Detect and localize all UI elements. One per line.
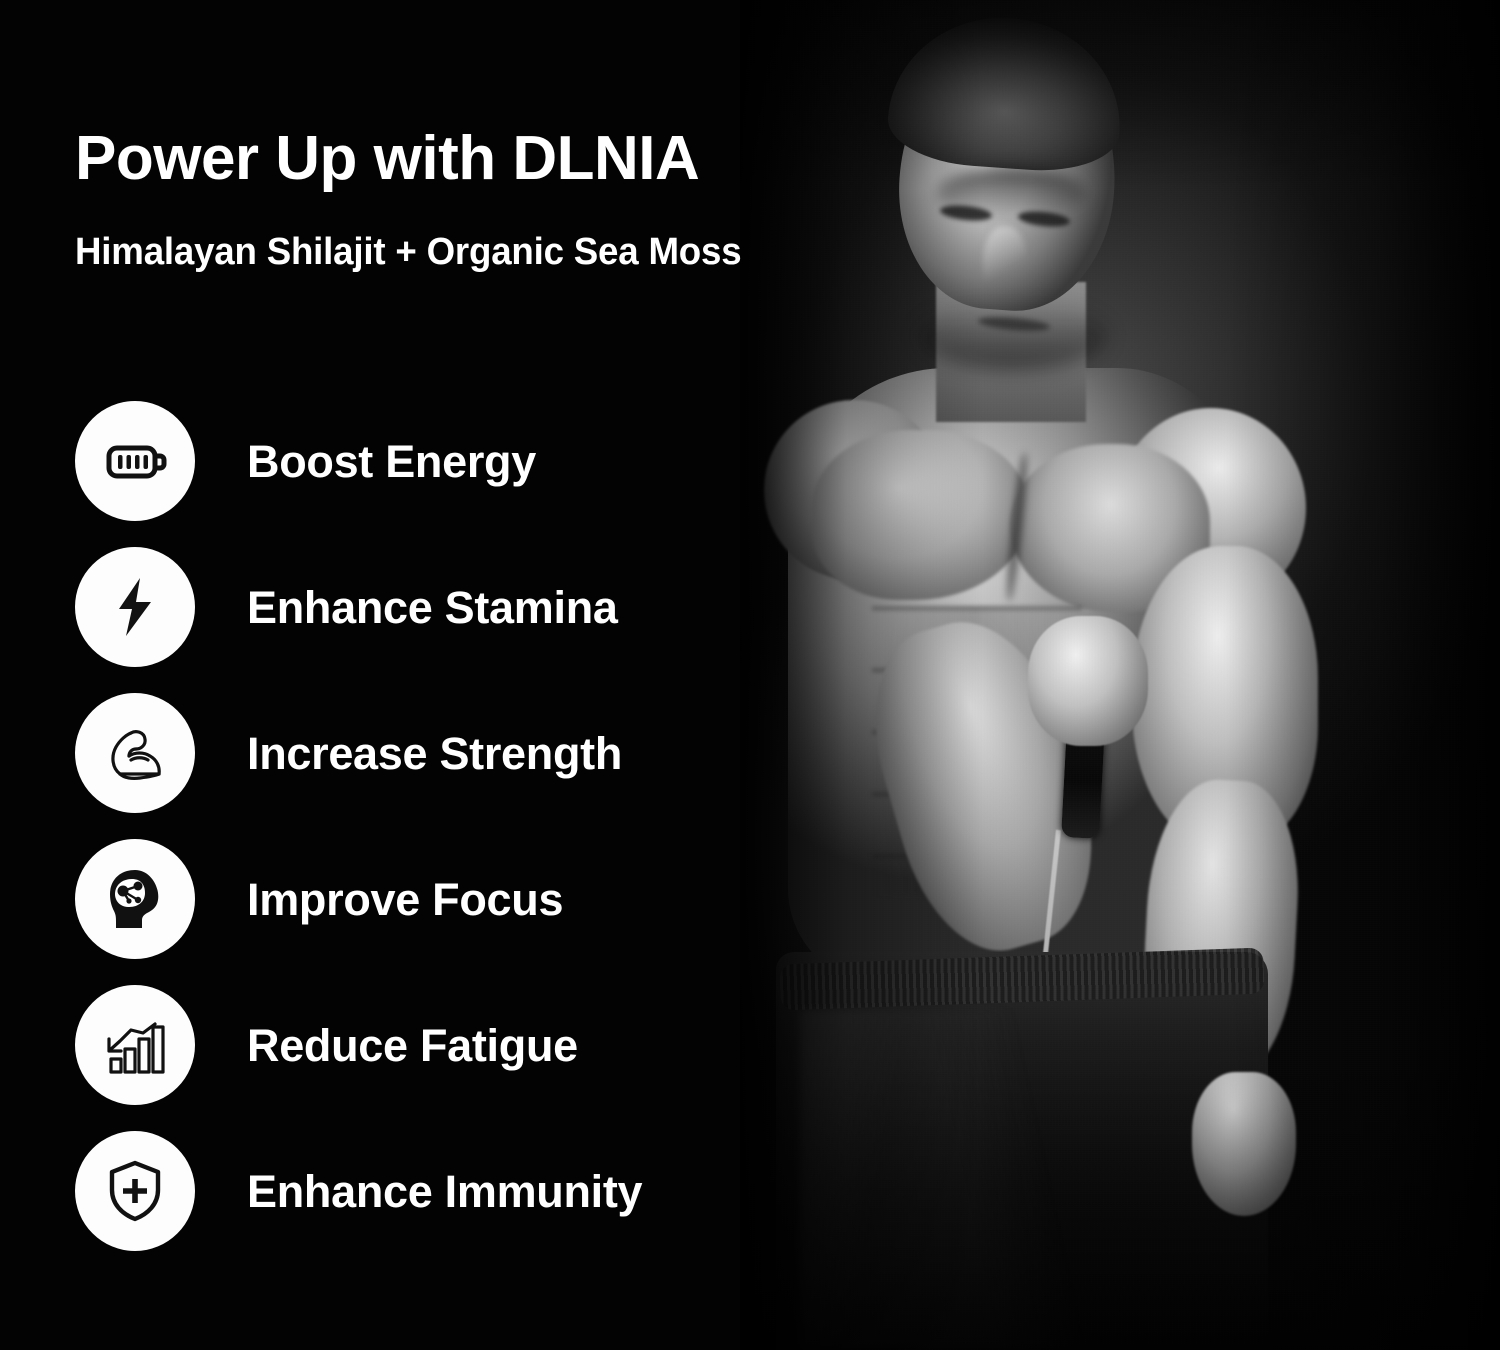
benefit-badge [75,547,195,667]
shorts-folds [800,1010,1220,1350]
benefits-list: Boost Energy Enhance Stamina [75,388,835,1264]
benefit-badge [75,693,195,813]
content-pane: Power Up with DLNIA Himalayan Shilajit +… [0,0,840,1350]
lowered-hand [1192,1072,1296,1216]
flexed-bicep-icon [98,716,172,790]
hair [885,10,1127,176]
battery-icon [99,425,171,497]
gripping-hand [1028,616,1148,746]
benefit-label: Enhance Immunity [247,1169,642,1214]
page-title: Power Up with DLNIA [75,128,815,190]
benefit-badge [75,1131,195,1251]
benefit-badge [75,401,195,521]
jaw-shadow [918,300,1108,370]
list-item: Enhance Immunity [75,1118,835,1264]
list-item: Improve Focus [75,826,835,972]
benefit-label: Reduce Fatigue [247,1023,578,1068]
athlete-photo [740,0,1500,1350]
list-item: Boost Energy [75,388,835,534]
benefit-label: Increase Strength [247,731,622,776]
nose [983,226,1027,302]
list-item: Reduce Fatigue [75,972,835,1118]
lightning-bolt-icon [99,571,171,643]
list-item: Enhance Stamina [75,534,835,680]
benefit-label: Enhance Stamina [247,585,618,630]
benefit-label: Boost Energy [247,439,536,484]
list-item: Increase Strength [75,680,835,826]
athlete-figure [740,0,1500,1350]
brain-head-icon [98,862,172,936]
page-subtitle: Himalayan Shilajit + Organic Sea Moss [75,233,808,271]
benefit-badge [75,985,195,1105]
promo-banner: Power Up with DLNIA Himalayan Shilajit +… [0,0,1500,1350]
declining-bar-chart-icon [98,1008,172,1082]
benefit-badge [75,839,195,959]
shield-plus-icon [98,1154,172,1228]
benefit-label: Improve Focus [247,877,563,922]
